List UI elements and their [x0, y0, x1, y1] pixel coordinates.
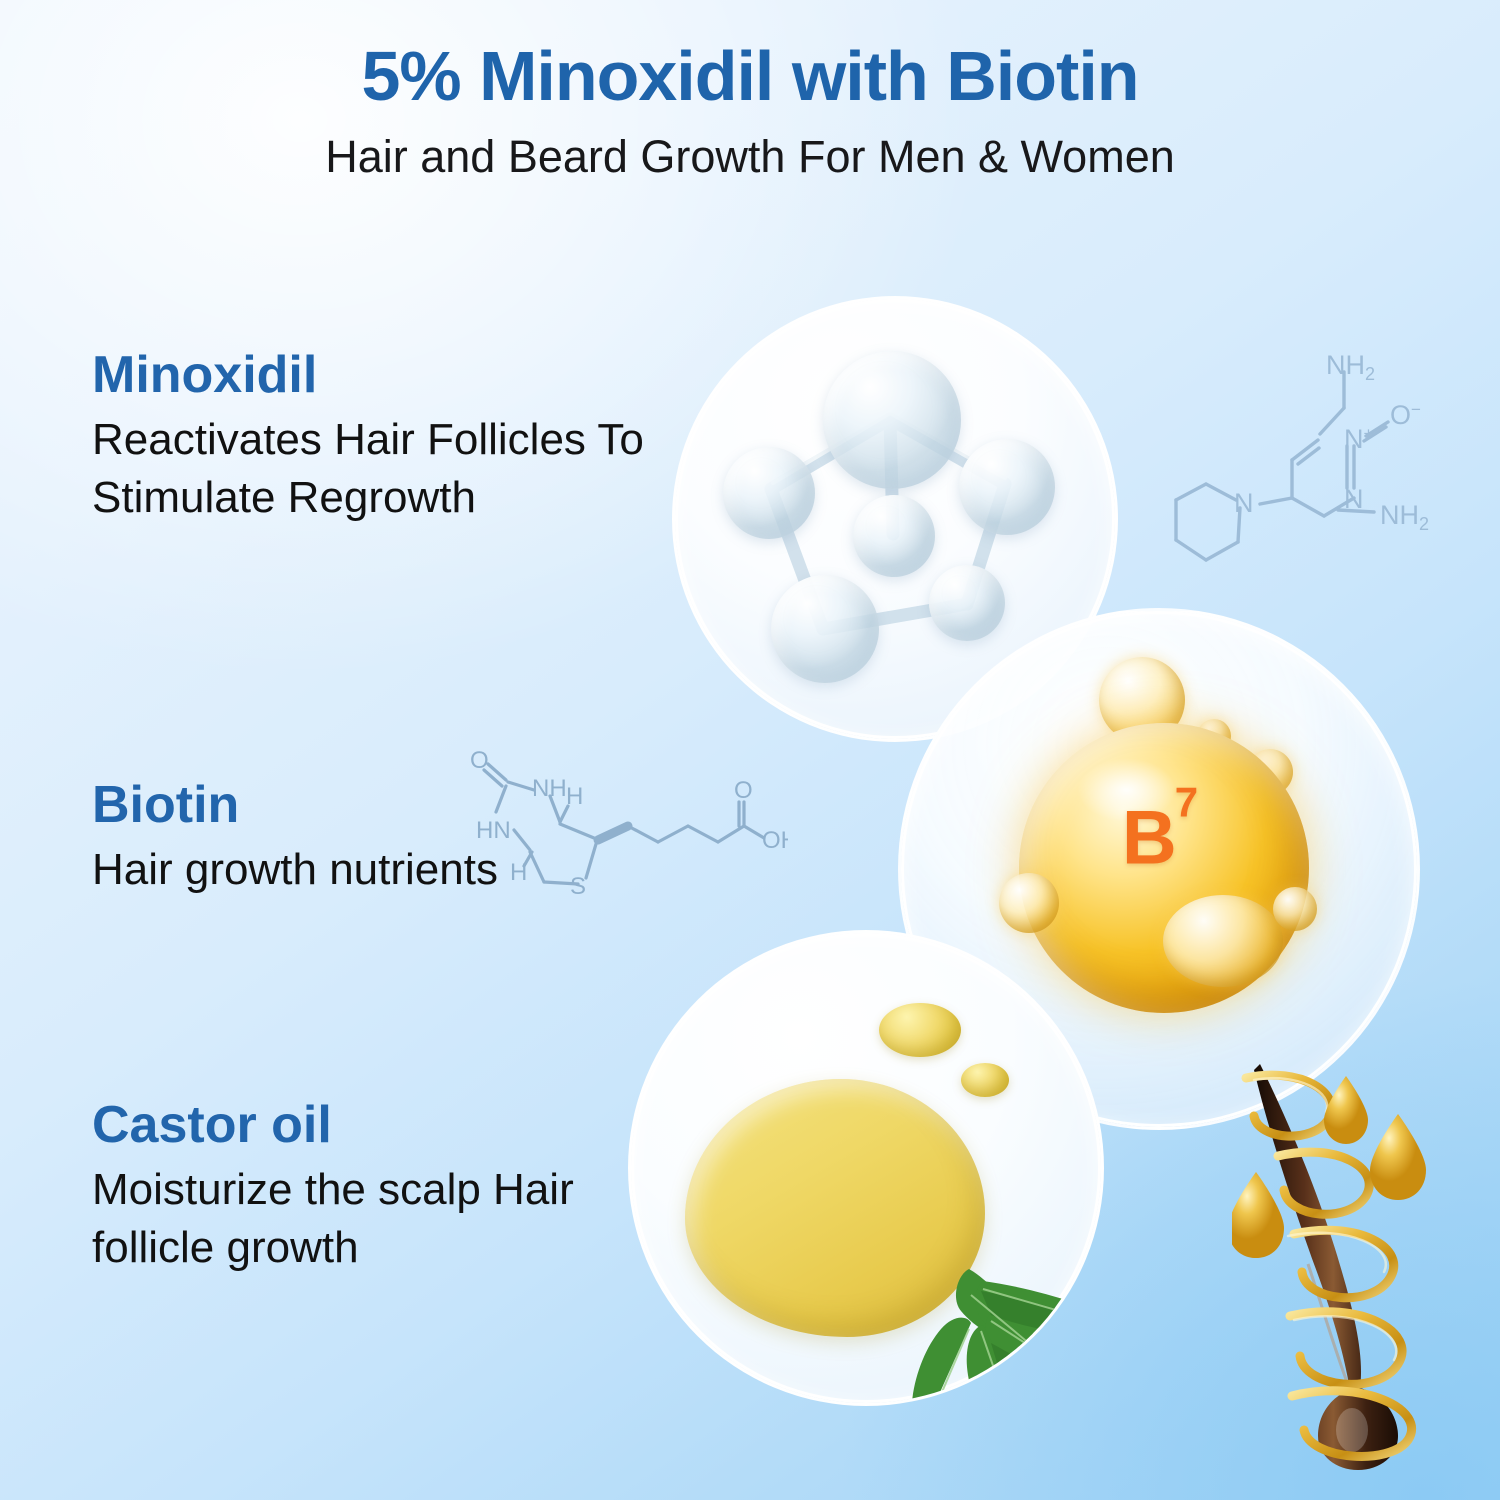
molecule-sphere-right — [959, 439, 1055, 535]
vitamin-b7-label: B7 — [901, 795, 1417, 882]
biotin-structural-formula: O NH HN H H S O OH — [452, 742, 788, 904]
oil-bubble — [1273, 887, 1317, 931]
feature-castor-body: Moisturize the scalp Hair follicle growt… — [92, 1161, 632, 1277]
hair-strand-with-oil-icon — [1232, 1058, 1500, 1470]
molecule-sphere-left — [723, 447, 815, 539]
feature-minoxidil-heading: Minoxidil — [92, 348, 652, 403]
atom-label-oh: OH — [762, 827, 788, 854]
oil-droplet — [961, 1063, 1009, 1097]
atom-label-hn: HN — [476, 817, 511, 844]
atom-label-o-acid: O — [734, 777, 753, 804]
atom-label-nh2-top: NH2 — [1326, 350, 1375, 384]
atom-label-n-plus: N+ — [1344, 424, 1374, 454]
hemp-leaf-icon — [821, 1163, 1104, 1406]
oil-droplet — [1232, 1172, 1284, 1258]
atom-label-n-ring: N — [1344, 484, 1364, 514]
feature-minoxidil: Minoxidil Reactivates Hair Follicles To … — [92, 348, 652, 527]
minoxidil-structural-formula: NH2 N+ O− N NH2 N — [1148, 348, 1484, 598]
infographic-canvas: 5% Minoxidil with Biotin Hair and Beard … — [0, 0, 1500, 1500]
atom-label-s: S — [570, 873, 586, 900]
molecule-sphere-center-top — [823, 351, 961, 489]
b7-superscript: 7 — [1175, 778, 1196, 825]
header-block: 5% Minoxidil with Biotin Hair and Beard … — [0, 40, 1500, 181]
molecule-sphere-bottom-left — [771, 575, 879, 683]
feature-biotin-heading: Biotin — [92, 778, 512, 833]
feature-minoxidil-body: Reactivates Hair Follicles To Stimulate … — [92, 411, 652, 527]
oil-droplet — [1370, 1114, 1426, 1200]
feature-castor-heading: Castor oil — [92, 1098, 632, 1153]
atom-label-o-carbonyl: O — [470, 747, 489, 774]
oil-droplet — [879, 1003, 961, 1057]
feature-biotin-body: Hair growth nutrients — [92, 841, 512, 899]
atom-label-n-piperidine: N — [1234, 488, 1254, 518]
feature-biotin: Biotin Hair growth nutrients — [92, 778, 512, 899]
atom-label-h-lower: H — [510, 859, 527, 886]
molecule-sphere-middle — [853, 495, 935, 577]
oil-bubble — [999, 873, 1059, 933]
oil-droplet — [1324, 1076, 1368, 1144]
molecule-sphere-bottom-right — [929, 565, 1005, 641]
atom-label-nh: NH — [532, 775, 567, 802]
page-subtitle: Hair and Beard Growth For Men & Women — [0, 132, 1500, 182]
atom-label-h-upper: H — [566, 783, 583, 810]
feature-castor: Castor oil Moisturize the scalp Hair fol… — [92, 1098, 632, 1277]
atom-label-o-minus: O− — [1390, 400, 1421, 430]
page-title: 5% Minoxidil with Biotin — [0, 40, 1500, 114]
b7-letter: B — [1122, 796, 1175, 881]
castor-oil-dish — [628, 930, 1104, 1406]
atom-label-nh2-right: NH2 — [1380, 500, 1429, 534]
oil-bubble-large — [1163, 895, 1283, 987]
